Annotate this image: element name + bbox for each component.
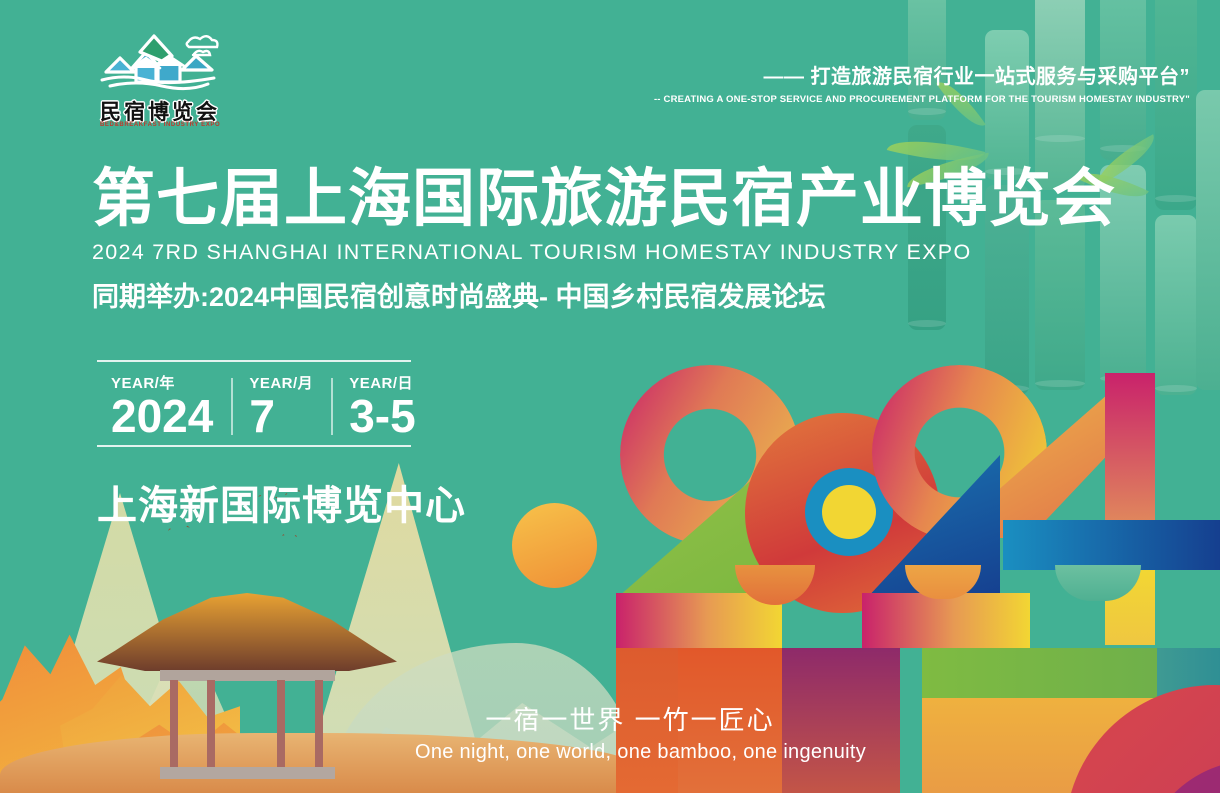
page-title: 第七届上海国际旅游民宿产业博览会 <box>92 168 1116 231</box>
title-block: 第七届上海国际旅游民宿产业博览会 2024 7RD SHANGHAI INTER… <box>92 168 1116 314</box>
date-cell-month: YEAR/月 7 <box>231 372 331 439</box>
date-cell-day: YEAR/日 3-5 <box>331 372 433 439</box>
digit-zero-center-yellow <box>822 485 876 539</box>
page-title-english: 2024 7RD SHANGHAI INTERNATIONAL TOURISM … <box>92 240 1116 265</box>
divider-bottom <box>97 445 411 447</box>
bamboo-stalk <box>985 30 1029 180</box>
tagline-chinese: —— 打造旅游民宿行业一站式服务与采购平台” <box>654 60 1190 89</box>
pavilion-pillar <box>170 680 178 770</box>
bird-icon <box>282 532 298 541</box>
mountain-house-water-logo-icon <box>96 28 228 94</box>
expo-logo[interactable]: 民宿博览会 BED&BREAKFAST INDUSTRY EXPO <box>96 28 228 136</box>
page-subtitle: 同期举办:2024中国民宿创意时尚盛典- 中国乡村民宿发展论坛 <box>92 275 1116 314</box>
pavilion-pillar <box>277 680 285 770</box>
pavilion-pillar <box>315 680 323 770</box>
sun-circle <box>512 503 597 588</box>
tagline-block: —— 打造旅游民宿行业一站式服务与采购平台” -- CREATING A ONE… <box>654 60 1190 105</box>
date-value-year: 2024 <box>111 395 213 439</box>
pavilion-base <box>160 767 335 779</box>
date-block: YEAR/年 2024 YEAR/月 7 YEAR/日 3-5 <box>97 360 411 447</box>
slogan-chinese: 一宿一世界 一竹一匠心 <box>415 700 845 737</box>
pavilion-beam <box>160 670 335 681</box>
bamboo-stalk <box>1196 90 1220 390</box>
date-cell-year: YEAR/年 2024 <box>97 372 231 439</box>
date-value-day: 3-5 <box>349 395 415 439</box>
digit-four-crossbar <box>1003 520 1220 570</box>
logo-english-name: BED&BREAKFAST INDUSTRY EXPO <box>100 122 220 128</box>
digit-two-b-base-bar <box>862 593 1030 648</box>
tagline-english: -- CREATING A ONE-STOP SERVICE AND PROCU… <box>654 94 1190 105</box>
slogan-block: 一宿一世界 一竹一匠心 One night, one world, one ba… <box>415 700 845 764</box>
pavilion-pillar <box>207 680 215 770</box>
color-block-green <box>922 648 1157 698</box>
venue-name: 上海新国际博览中心 <box>97 473 466 531</box>
date-value-month: 7 <box>249 395 313 439</box>
poster-root: 民宿博览会 BED&BREAKFAST INDUSTRY EXPO —— 打造旅… <box>0 0 1220 793</box>
bamboo-stalk <box>1155 0 1197 210</box>
slogan-english: One night, one world, one bamboo, one in… <box>415 741 845 764</box>
